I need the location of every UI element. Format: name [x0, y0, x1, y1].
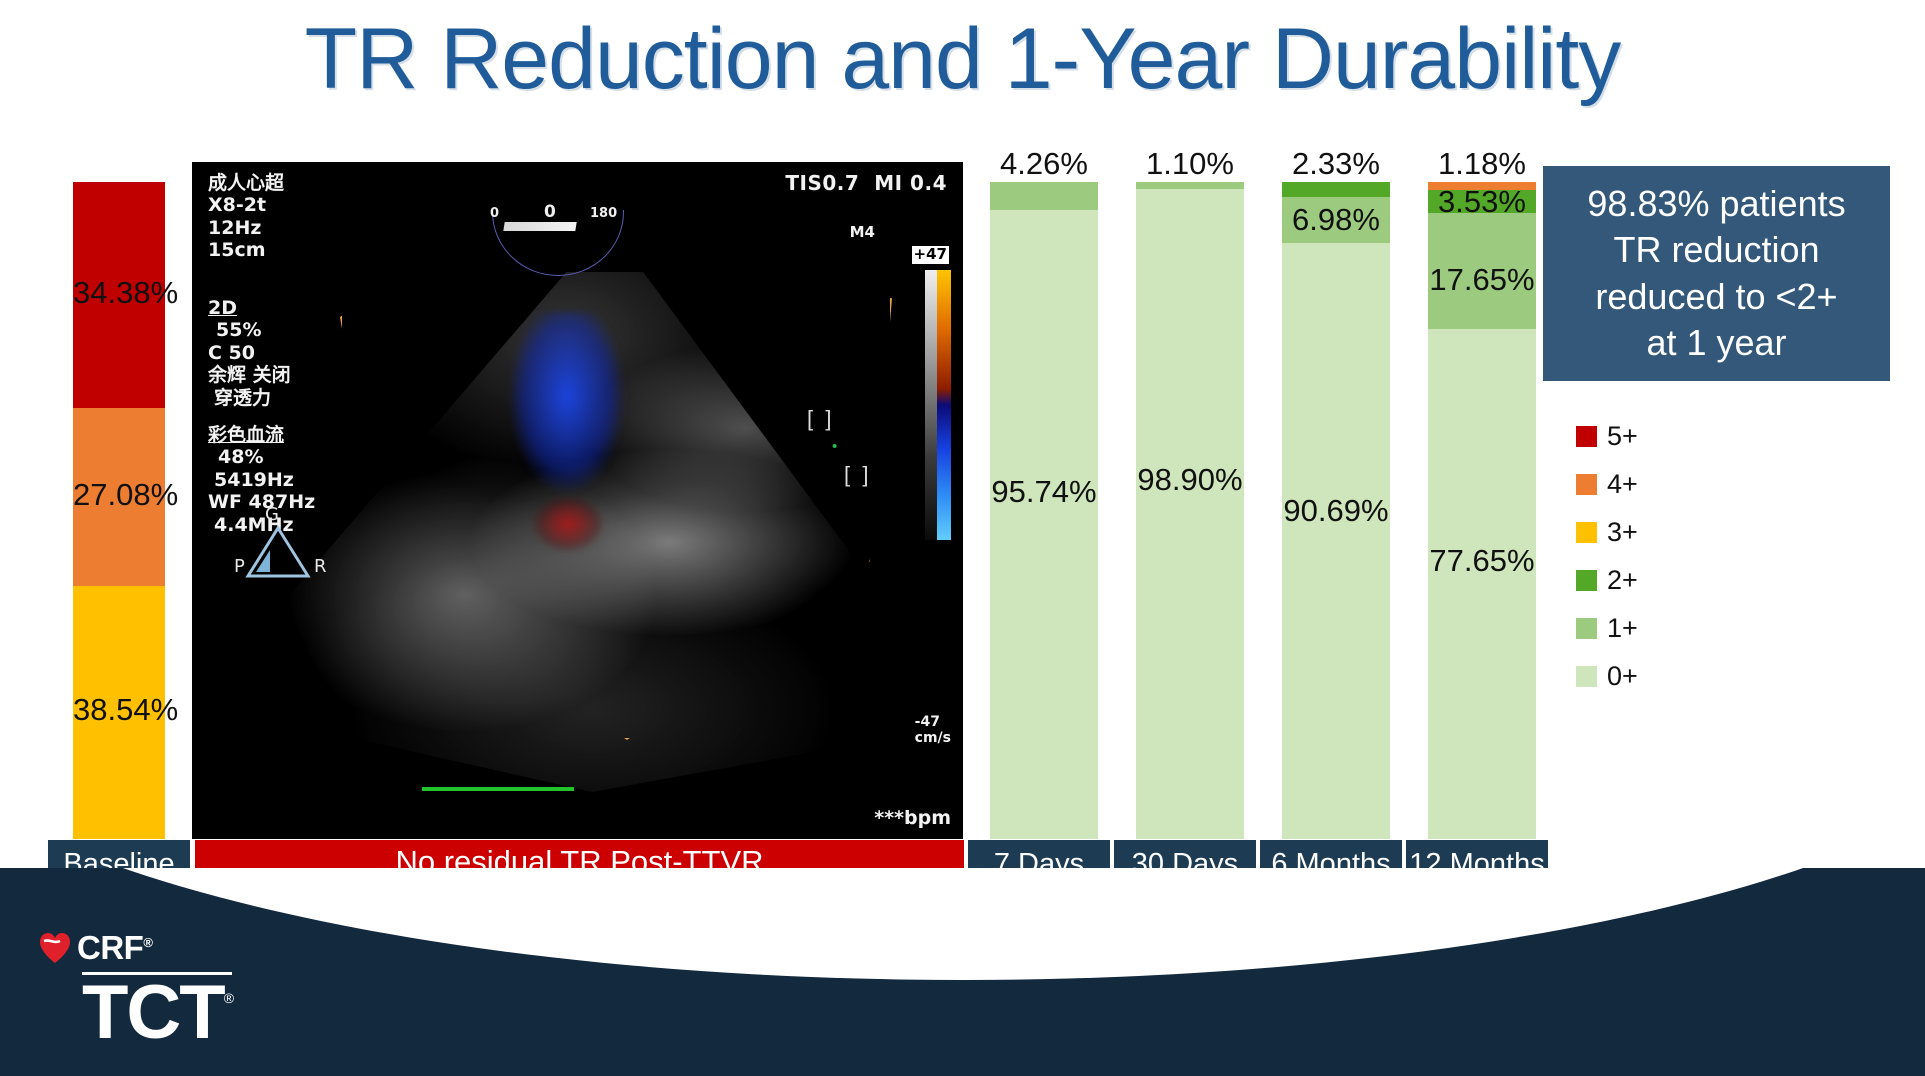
footer-arc-decoration: [0, 868, 1925, 980]
callout-line-4: at 1 year: [1646, 322, 1786, 363]
bar-segment-0plus: 98.90%: [1136, 189, 1244, 839]
heart-icon: [38, 932, 72, 964]
legend-swatch: [1576, 426, 1597, 447]
baseline-stacked-bar: 34.38%27.08%38.54%: [73, 182, 165, 839]
legend-swatch: [1576, 618, 1597, 639]
caliper-green-marker-icon: •: [832, 438, 837, 455]
fan-angle-center: 0: [544, 202, 556, 222]
baseline-segment-5plus: 34.38%: [73, 182, 165, 408]
bar-segment-0plus: 77.65%: [1428, 329, 1536, 839]
bar-segment-label: 90.69%: [1248, 493, 1424, 529]
svg-text:G: G: [265, 504, 279, 525]
legend-item-4plus: 4+: [1576, 460, 1638, 508]
bar-segment-2plus: 3.53%: [1428, 190, 1536, 213]
bar-segment-1plus: 1.10%: [1136, 182, 1244, 189]
color-velocity-bar: [937, 270, 951, 540]
ultrasound-tis-mi: TIS0.7 MI 0.4: [785, 172, 947, 196]
legend-label: 0+: [1607, 661, 1638, 692]
heart-rate-readout: ***bpm: [874, 807, 951, 829]
baseline-segment-4plus: 27.08%: [73, 408, 165, 586]
legend-swatch: [1576, 474, 1597, 495]
legend-item-5plus: 5+: [1576, 412, 1638, 460]
ultrasound-header-text: 成人心超 X8-2t 12Hz 15cm: [208, 172, 284, 262]
chart-legend: 5+4+3+2+1+0+: [1576, 412, 1638, 700]
key-finding-callout: 98.83% patients TR reduction reduced to …: [1543, 166, 1890, 381]
legend-label: 5+: [1607, 421, 1638, 452]
ultrasound-2d-settings: 2D 55% C 50 余辉 关闭 穿透力: [208, 297, 291, 409]
legend-label: 2+: [1607, 565, 1638, 596]
followup-stacked-bar: 1.10%98.90%: [1136, 182, 1244, 839]
followup-stacked-bar: 2.33%6.98%90.69%: [1282, 182, 1390, 839]
echocardiogram-image: 成人心超 X8-2t 12Hz 15cm 2D 55% C 50 余辉 关闭 穿…: [192, 162, 963, 839]
doppler-scale-min: -47 cm/s: [915, 714, 951, 747]
legend-swatch: [1576, 522, 1597, 543]
svg-text:P: P: [234, 556, 245, 577]
legend-label: 3+: [1607, 517, 1638, 548]
baseline-segment-3plus: 38.54%: [73, 586, 165, 839]
probe-orientation-indicator: [503, 222, 576, 231]
followup-stacked-bar: 1.18%3.53%17.65%77.65%: [1428, 182, 1536, 839]
bar-segment-label: 77.65%: [1394, 543, 1570, 579]
doppler-scale-max: +47: [912, 246, 949, 264]
legend-label: 4+: [1607, 469, 1638, 500]
slide-canvas: TR Reduction and 1-Year Durability 34.38…: [0, 0, 1925, 1076]
depth-scale-marker: [422, 787, 574, 791]
baseline-segment-label: 27.08%: [73, 477, 165, 513]
callout-line-2: TR reduction: [1613, 229, 1819, 270]
crf-tct-logo: CRF® TCT ®: [38, 929, 248, 1048]
callout-line-1: 98.83% patients: [1587, 183, 1845, 224]
tct-wordmark: TCT: [82, 978, 224, 1048]
legend-item-3plus: 3+: [1576, 508, 1638, 556]
baseline-segment-label: 34.38%: [73, 275, 165, 311]
slide-footer: CRF® TCT ®: [0, 868, 1925, 1076]
baseline-segment-label: 38.54%: [73, 692, 165, 728]
crf-wordmark: CRF®: [77, 929, 152, 967]
ultrasound-m4-label: M4: [850, 224, 875, 242]
legend-item-2plus: 2+: [1576, 556, 1638, 604]
caliper-lower-icon: [ ]: [844, 462, 868, 488]
fan-angle-left: 0: [490, 206, 499, 221]
bar-segment-0plus: 95.74%: [990, 210, 1098, 839]
bar-segment-1plus: 17.65%: [1428, 213, 1536, 329]
bar-segment-2plus: 2.33%: [1282, 182, 1390, 197]
orientation-marker-icon: G P R: [226, 502, 336, 588]
legend-item-1plus: 1+: [1576, 604, 1638, 652]
svg-text:R: R: [314, 556, 327, 577]
legend-item-0plus: 0+: [1576, 652, 1638, 700]
grayscale-bar: [925, 270, 937, 540]
callout-line-3: reduced to <2+: [1595, 276, 1837, 317]
fan-angle-right: 180: [590, 206, 617, 221]
legend-swatch: [1576, 666, 1597, 687]
bar-segment-0plus: 90.69%: [1282, 243, 1390, 839]
followup-stacked-bar: 4.26%95.74%: [990, 182, 1098, 839]
legend-swatch: [1576, 570, 1597, 591]
page-title: TR Reduction and 1-Year Durability: [0, 14, 1925, 104]
caliper-upper-icon: [ ]: [807, 406, 831, 432]
bar-segment-1plus: 4.26%: [990, 182, 1098, 210]
tct-registered-mark: ®: [224, 990, 234, 1006]
doppler-color-scale: [925, 270, 951, 540]
legend-label: 1+: [1607, 613, 1638, 644]
bar-segment-1plus: 6.98%: [1282, 197, 1390, 243]
